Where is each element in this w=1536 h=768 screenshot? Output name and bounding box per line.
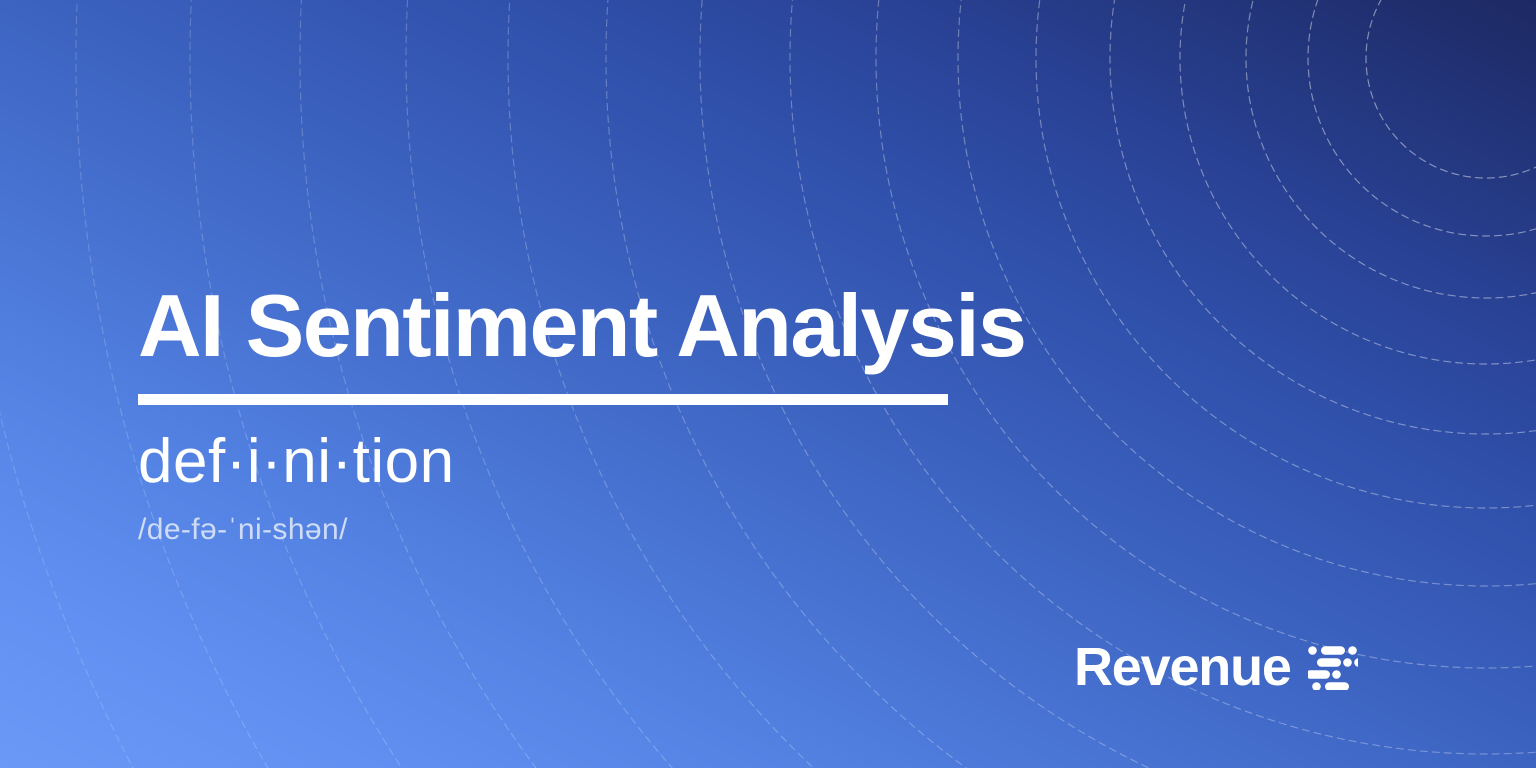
revenue-bars-icon — [1308, 645, 1358, 690]
title-divider — [138, 394, 948, 405]
definition-banner: AI Sentiment Analysis def·i·ni·tion /de-… — [0, 0, 1536, 768]
logo-wordmark: Revenue — [1074, 640, 1291, 694]
phonetic-pronunciation: /de-fə-ˈni-shən/ — [138, 515, 1138, 545]
revenue-logo[interactable]: Revenue — [1074, 640, 1358, 694]
definition-word: def·i·ni·tion — [138, 431, 1138, 493]
page-title: AI Sentiment Analysis — [138, 282, 1138, 370]
banner-content: AI Sentiment Analysis def·i·ni·tion /de-… — [138, 282, 1138, 545]
